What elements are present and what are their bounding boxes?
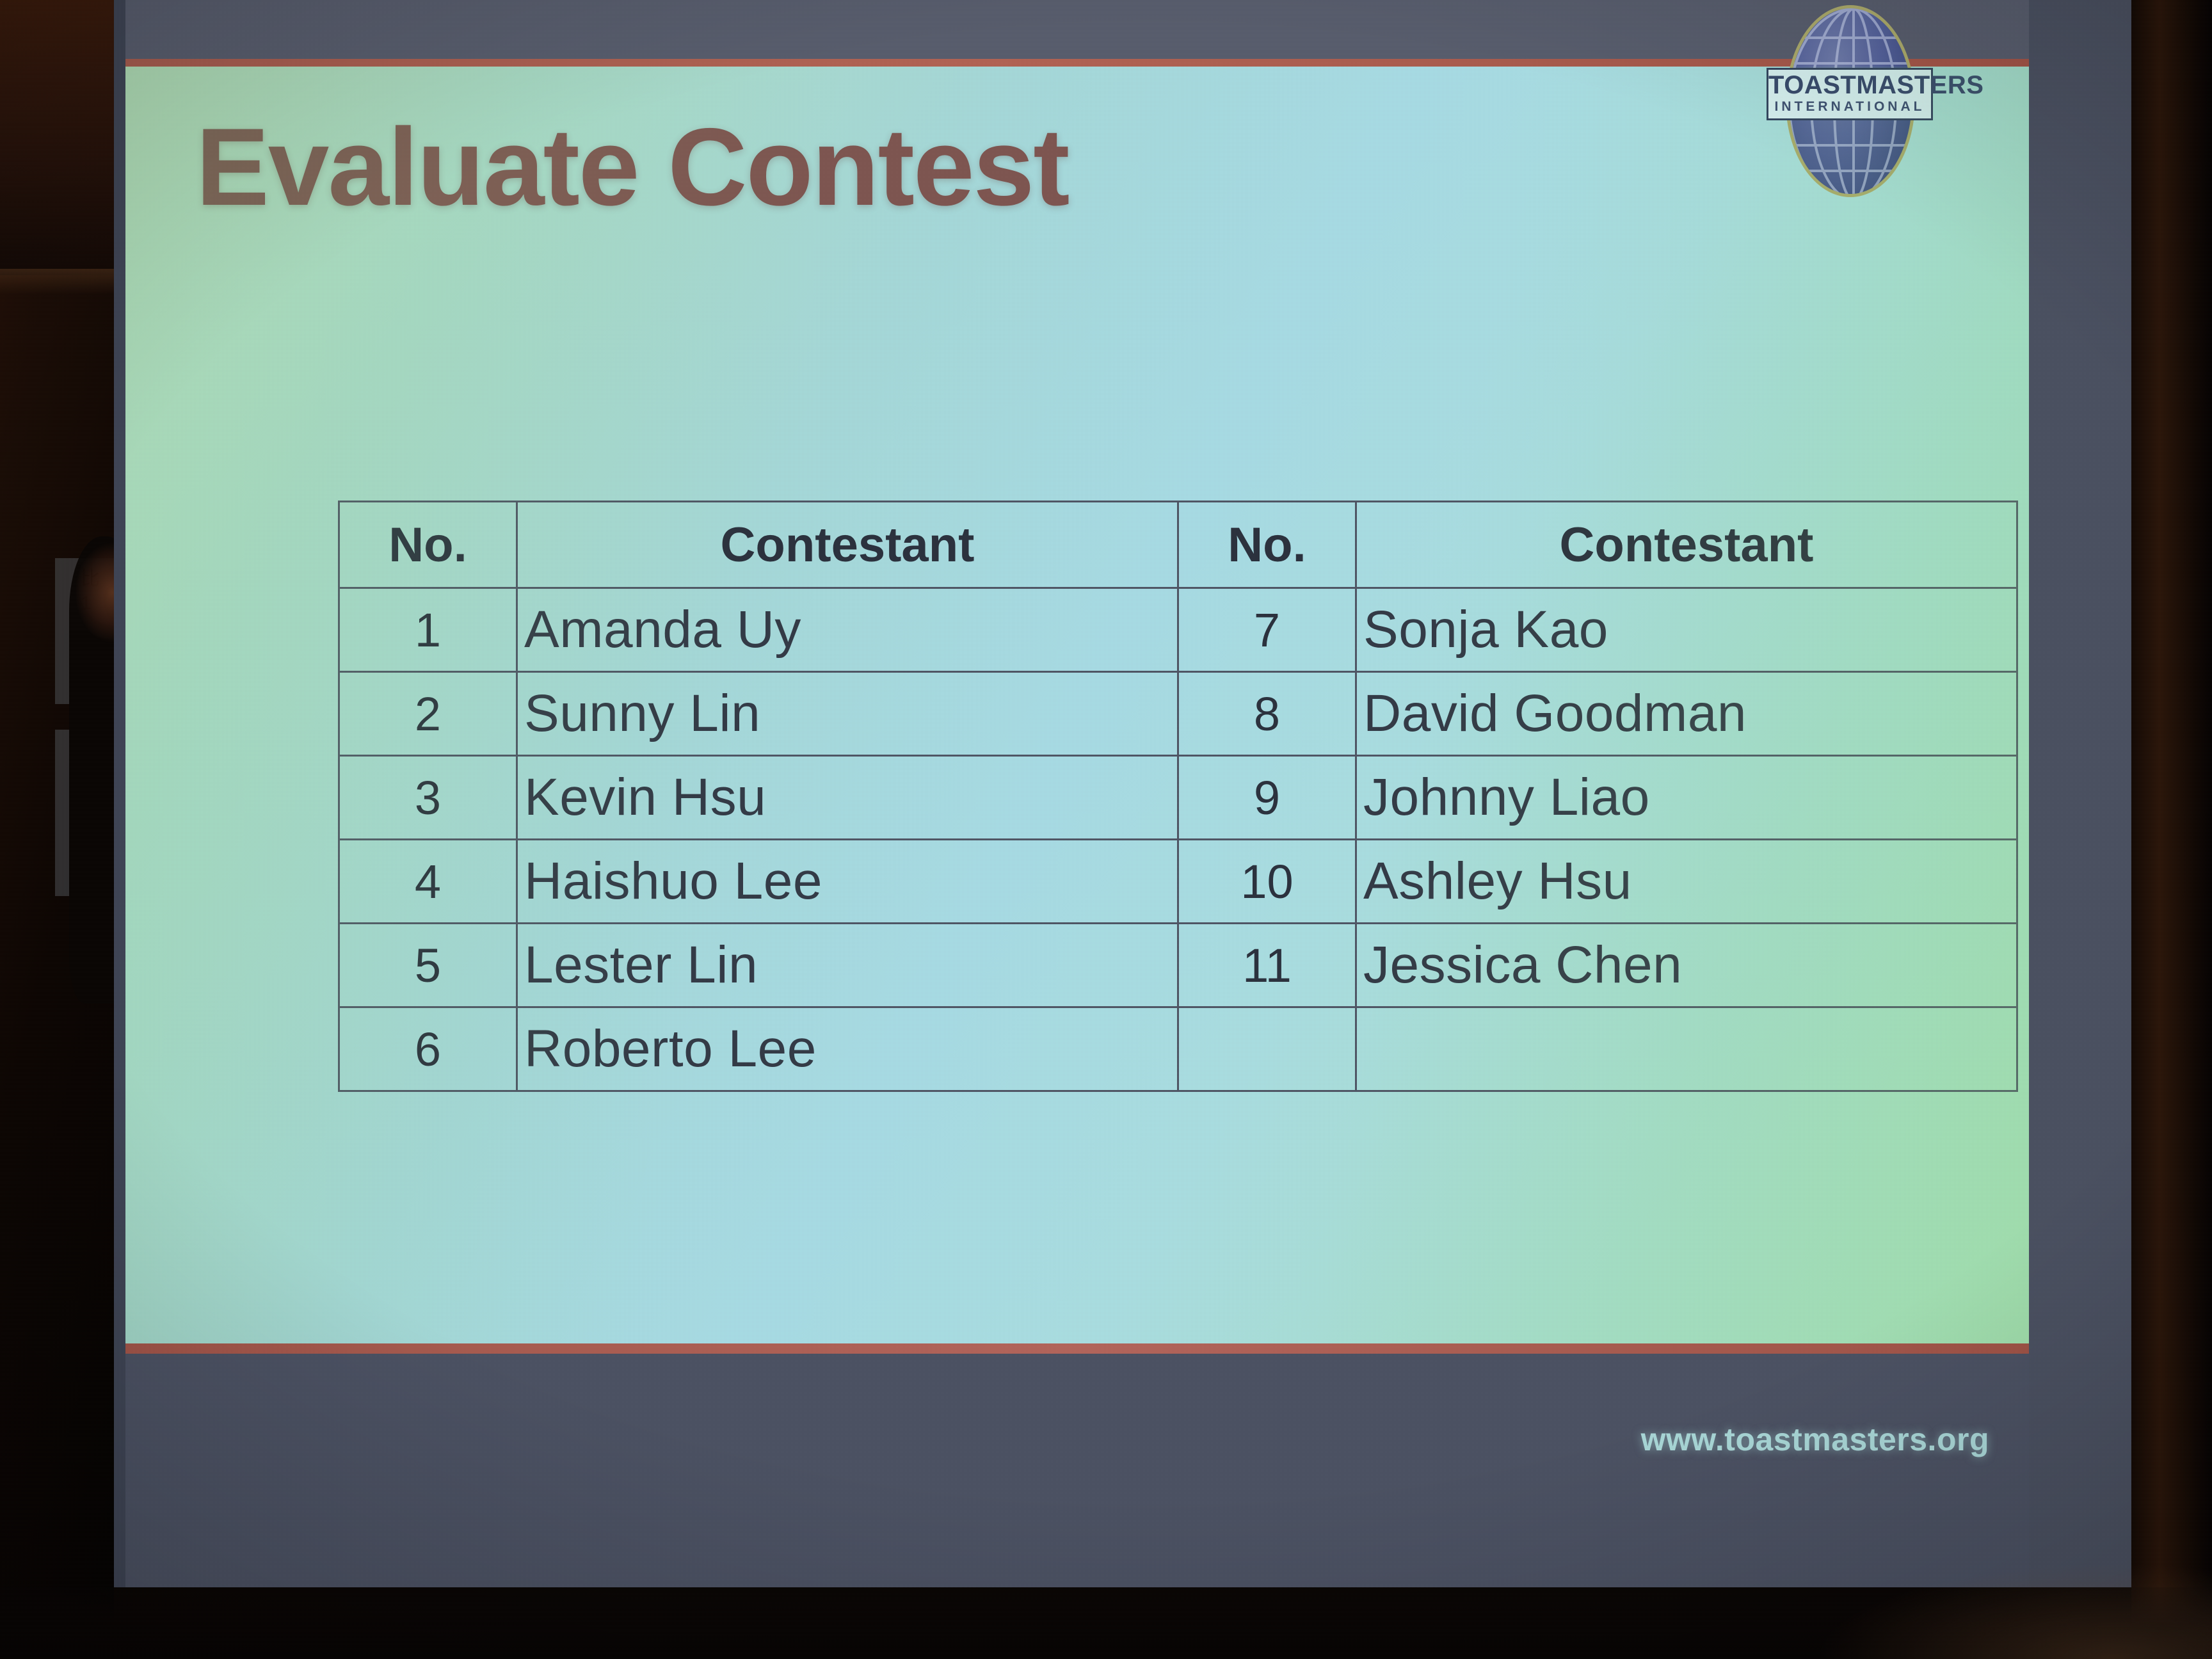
presentation-slide: Evaluate Contest (125, 67, 2029, 1345)
footer-url: www.toastmasters.org (1641, 1421, 1989, 1458)
logo-wordmark: TOASTMASTERS (1768, 72, 1931, 99)
cell-name: Lester Lin (517, 924, 1178, 1007)
room-light-glow (1815, 1563, 2212, 1659)
cell-name: David Goodman (1356, 672, 2017, 756)
table-row: 1 Amanda Uy 7 Sonja Kao (339, 588, 2017, 672)
cell-name-empty (1356, 1007, 2017, 1091)
cell-no: 6 (339, 1007, 517, 1091)
column-header-contestant-left: Contestant (517, 502, 1178, 588)
cell-name: Roberto Lee (517, 1007, 1178, 1091)
table-header: No. Contestant No. Contestant (339, 502, 2017, 588)
contestant-table: No. Contestant No. Contestant 1 Amanda U… (338, 501, 2018, 1092)
room-wall-highlight (0, 269, 114, 294)
cell-no-empty (1178, 1007, 1356, 1091)
cell-no: 9 (1178, 756, 1356, 840)
room-doorway (0, 0, 114, 275)
table-row: 2 Sunny Lin 8 David Goodman (339, 672, 2017, 756)
cell-no: 3 (339, 756, 517, 840)
table-row: 4 Haishuo Lee 10 Ashley Hsu (339, 840, 2017, 924)
cell-no: 5 (339, 924, 517, 1007)
column-header-no-left: No. (339, 502, 517, 588)
cell-name: Haishuo Lee (517, 840, 1178, 924)
table-row: 5 Lester Lin 11 Jessica Chen (339, 924, 2017, 1007)
cell-name: Sonja Kao (1356, 588, 2017, 672)
table-body: 1 Amanda Uy 7 Sonja Kao 2 Sunny Lin 8 Da… (339, 588, 2017, 1091)
column-header-contestant-right: Contestant (1356, 502, 2017, 588)
cell-no: 11 (1178, 924, 1356, 1007)
cell-name: Ashley Hsu (1356, 840, 2017, 924)
projection-screen: Evaluate Contest (114, 0, 2131, 1587)
cell-no: 2 (339, 672, 517, 756)
cell-name: Jessica Chen (1356, 924, 2017, 1007)
table-header-row: No. Contestant No. Contestant (339, 502, 2017, 588)
cell-no: 8 (1178, 672, 1356, 756)
cell-no: 7 (1178, 588, 1356, 672)
table-row: 6 Roberto Lee (339, 1007, 2017, 1091)
logo-subtitle: INTERNATIONAL (1768, 99, 1931, 115)
column-header-no-right: No. (1178, 502, 1356, 588)
cell-no: 1 (339, 588, 517, 672)
cell-no: 10 (1178, 840, 1356, 924)
cell-name: Kevin Hsu (517, 756, 1178, 840)
cell-name: Amanda Uy (517, 588, 1178, 672)
cell-name: Johnny Liao (1356, 756, 2017, 840)
photo-scene: 比 1 Please th Evaluate Contest (0, 0, 2212, 1659)
logo-banner: TOASTMASTERS INTERNATIONAL (1767, 68, 1933, 120)
screen-margin-right (2029, 0, 2131, 1587)
cell-name: Sunny Lin (517, 672, 1178, 756)
slide-rule-bottom (125, 1343, 2029, 1354)
cell-no: 4 (339, 840, 517, 924)
page-title: Evaluate Contest (196, 104, 1068, 230)
table-row: 3 Kevin Hsu 9 Johnny Liao (339, 756, 2017, 840)
room-wall-right (2131, 0, 2212, 1659)
screen-margin-bottom (114, 1345, 2131, 1587)
screen-margin-left (114, 0, 125, 1587)
toastmasters-logo: TOASTMASTERS INTERNATIONAL (1767, 5, 1933, 204)
